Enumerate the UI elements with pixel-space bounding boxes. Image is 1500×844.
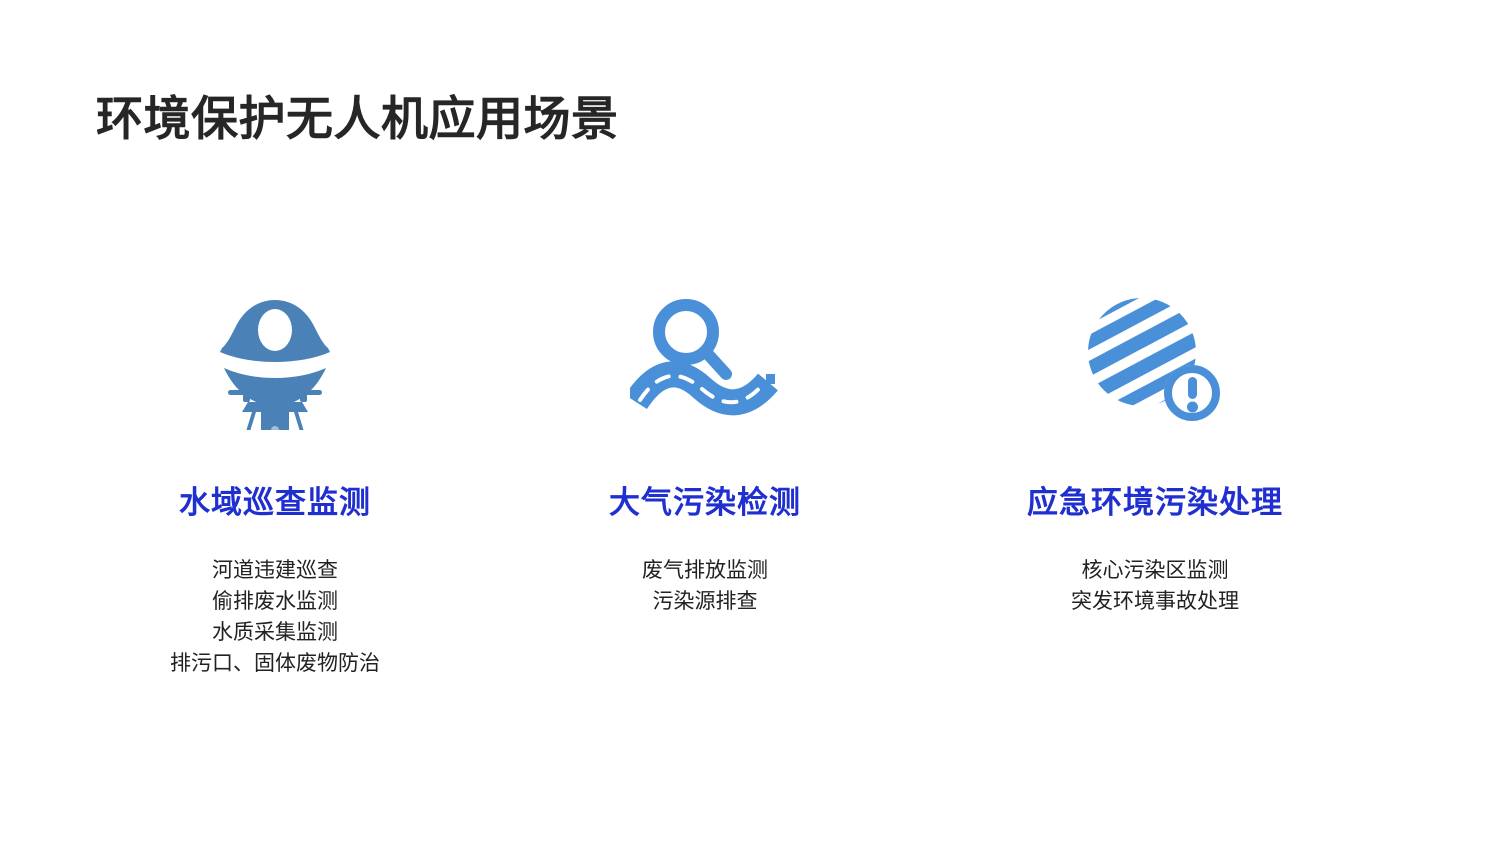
striped-globe-warning-icon bbox=[1080, 285, 1230, 435]
slide-canvas: 环境保护无人机应用场景 bbox=[0, 0, 1500, 844]
card-list: 废气排放监测 污染源排查 bbox=[642, 555, 768, 617]
list-item: 突发环境事故处理 bbox=[1071, 586, 1239, 617]
list-item: 水质采集监测 bbox=[212, 617, 338, 648]
list-item: 排污口、固体废物防治 bbox=[170, 648, 380, 679]
feature-card-emergency-pollution: 应急环境污染处理 核心污染区监测 突发环境事故处理 bbox=[940, 285, 1370, 617]
list-item: 核心污染区监测 bbox=[1082, 555, 1229, 586]
magnifier-road-icon bbox=[630, 285, 780, 435]
card-title: 应急环境污染处理 bbox=[1027, 477, 1283, 522]
card-title: 大气污染检测 bbox=[609, 477, 801, 522]
list-item: 废气排放监测 bbox=[642, 555, 768, 586]
page-title: 环境保护无人机应用场景 bbox=[96, 93, 619, 145]
feature-columns: 水域巡查监测 河道违建巡查 偷排废水监测 水质采集监测 排污口、固体废物防治 bbox=[0, 285, 1500, 679]
card-title: 水域巡查监测 bbox=[179, 477, 371, 522]
list-item: 河道违建巡查 bbox=[212, 555, 338, 586]
card-list: 河道违建巡查 偷排废水监测 水质采集监测 排污口、固体废物防治 bbox=[170, 555, 380, 679]
feature-card-air-pollution: 大气污染检测 废气排放监测 污染源排查 bbox=[490, 285, 920, 617]
card-list: 核心污染区监测 突发环境事故处理 bbox=[1071, 555, 1239, 617]
police-cap-drone-icon bbox=[200, 285, 350, 435]
feature-card-water-patrol: 水域巡查监测 河道违建巡查 偷排废水监测 水质采集监测 排污口、固体废物防治 bbox=[60, 285, 490, 679]
list-item: 污染源排查 bbox=[653, 586, 758, 617]
list-item: 偷排废水监测 bbox=[212, 586, 338, 617]
